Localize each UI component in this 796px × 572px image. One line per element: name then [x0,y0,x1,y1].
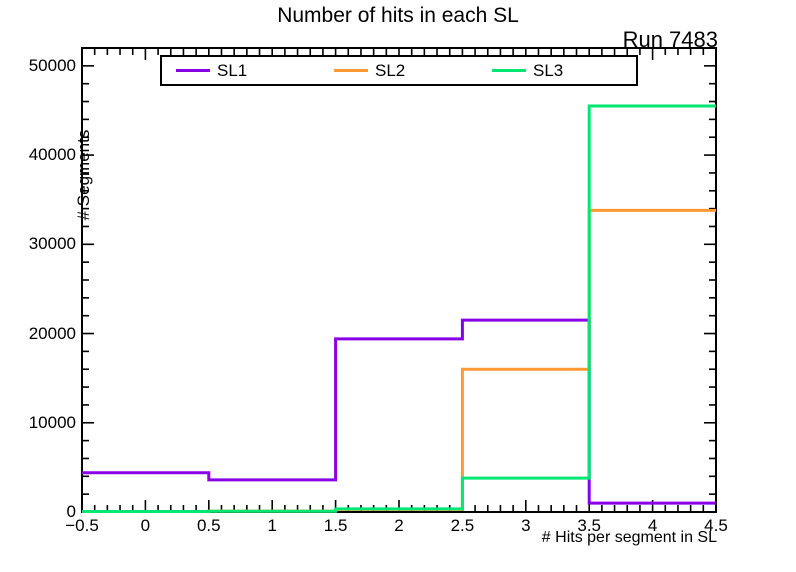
legend-swatch-sl3 [492,69,526,72]
histogram-series-sl2 [82,210,716,511]
legend-swatch-sl2 [334,69,368,72]
legend-swatch-sl1 [176,69,210,72]
x-tick-label: 1.5 [301,517,371,534]
x-tick-label: −0.5 [47,517,117,534]
y-axis-title: # Segments [74,85,94,265]
y-tick-label-group: 01000020000300004000050000 [4,0,76,572]
y-tick-label: 10000 [6,414,76,431]
legend-label-sl1: SL1 [217,62,247,79]
y-tick-label: 20000 [6,325,76,342]
legend-label-sl2: SL2 [375,62,405,79]
plot-canvas: Number of hits in each SL Run 7483 01000… [0,0,796,572]
x-tick-label: 0 [110,517,180,534]
histogram-series-sl3 [82,106,716,512]
legend-entry-sl1[interactable]: SL1 [162,62,320,79]
y-tick-label: 50000 [6,57,76,74]
x-tick-label: 2 [364,517,434,534]
x-tick-label: 0.5 [174,517,244,534]
y-tick-label: 30000 [6,235,76,252]
legend-entry-sl3[interactable]: SL3 [478,62,636,79]
legend-entry-sl2[interactable]: SL2 [320,62,478,79]
y-tick-label: 40000 [6,146,76,163]
x-tick-label: 1 [237,517,307,534]
histogram-series-sl1 [82,320,716,503]
legend: SL1 SL2 SL3 [160,55,638,86]
x-axis-title: # Hits per segment in SL [437,529,717,547]
legend-label-sl3: SL3 [533,62,563,79]
